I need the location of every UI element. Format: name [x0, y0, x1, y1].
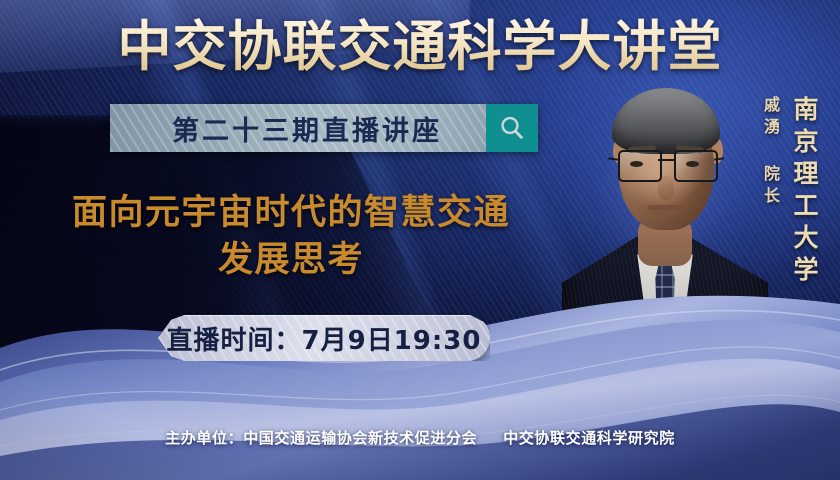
headline-line-1: 面向元宇宙时代的智慧交通	[72, 193, 510, 233]
headline-line-2: 发展思考	[26, 237, 556, 284]
webinar-poster: 中交协联交通科学大讲堂 第二十三期直播讲座 面向元宇宙时代的智慧交通 发展思考 …	[0, 0, 840, 480]
search-icon	[498, 114, 526, 142]
footer-organizer-1: 中国交通运输协会新技术促进分会	[243, 429, 477, 447]
broadcast-time-text: 直播时间：7月9日19:30	[167, 320, 482, 357]
footer-organizer-2: 中交协联交通科学研究院	[503, 429, 675, 447]
episode-bar-body: 第二十三期直播讲座	[110, 104, 486, 152]
episode-bar[interactable]: 第二十三期直播讲座	[110, 104, 538, 152]
main-title: 中交协联交通科学大讲堂	[0, 16, 840, 78]
search-button[interactable]	[486, 104, 538, 152]
episode-label: 第二十三期直播讲座	[154, 109, 442, 148]
speaker-affiliation: 南京理工大学	[786, 96, 822, 288]
speaker-name-role: 戚湧 院长	[758, 96, 782, 209]
footer-organizers: 主办单位：中国交通运输协会新技术促进分会中交协联交通科学研究院	[0, 427, 840, 448]
footer-prefix: 主办单位：	[165, 429, 243, 447]
broadcast-time-pill: 直播时间：7月9日19:30	[158, 315, 490, 361]
lecture-headline: 面向元宇宙时代的智慧交通 发展思考	[26, 190, 556, 284]
